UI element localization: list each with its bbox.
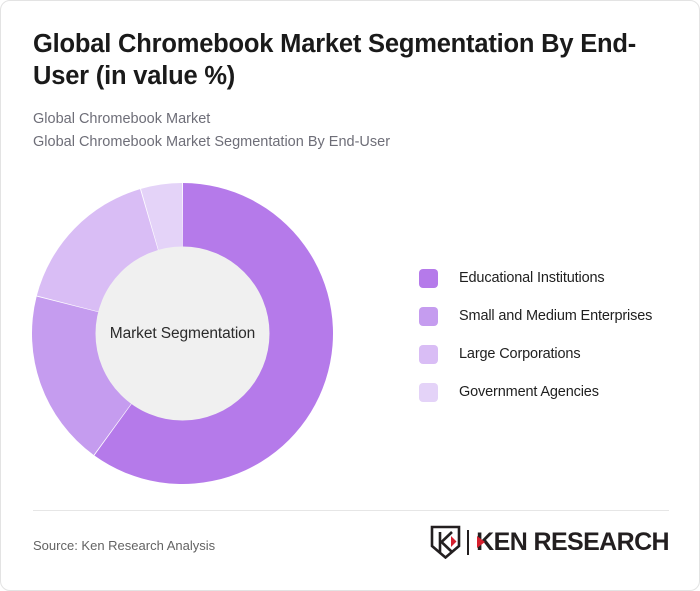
legend-swatch-icon-3 (419, 383, 438, 402)
legend-label-2: Large Corporations (459, 346, 580, 362)
legend-label-1: Small and Medium Enterprises (459, 308, 652, 324)
legend-swatch-icon-1 (419, 307, 438, 326)
logo-wordmark-text: KEN RESEARCH (476, 528, 669, 556)
donut-center-label: Market Segmentation (32, 183, 333, 484)
breadcrumb: Global Chromebook Market Global Chromebo… (33, 108, 653, 153)
legend-label-3: Government Agencies (459, 384, 599, 400)
chart-card: Global Chromebook Market Segmentation By… (0, 0, 700, 591)
page-title: Global Chromebook Market Segmentation By… (33, 29, 653, 92)
ken-research-shield-k-icon (430, 525, 461, 559)
chart-header: Global Chromebook Market Segmentation By… (33, 29, 653, 153)
legend-item-2[interactable]: Large Corporations (419, 335, 681, 373)
legend-item-3[interactable]: Government Agencies (419, 373, 681, 411)
chart-legend: Educational Institutions Small and Mediu… (419, 259, 681, 411)
logo-wordmark: KEN RESEARCH (476, 530, 669, 555)
logo-accent-triangle-icon (477, 536, 485, 548)
legend-item-1[interactable]: Small and Medium Enterprises (419, 297, 681, 335)
legend-swatch-icon-0 (419, 269, 438, 288)
logo-separator (467, 530, 469, 555)
donut-chart: Market Segmentation (32, 183, 333, 484)
legend-label-0: Educational Institutions (459, 270, 605, 286)
footer-divider (33, 510, 669, 511)
brand-logo: KEN RESEARCH (430, 525, 669, 559)
legend-swatch-icon-2 (419, 345, 438, 364)
breadcrumb-level-2: Global Chromebook Market Segmentation By… (33, 131, 653, 153)
breadcrumb-level-1: Global Chromebook Market (33, 108, 653, 130)
legend-item-0[interactable]: Educational Institutions (419, 259, 681, 297)
source-note: Source: Ken Research Analysis (33, 538, 215, 553)
